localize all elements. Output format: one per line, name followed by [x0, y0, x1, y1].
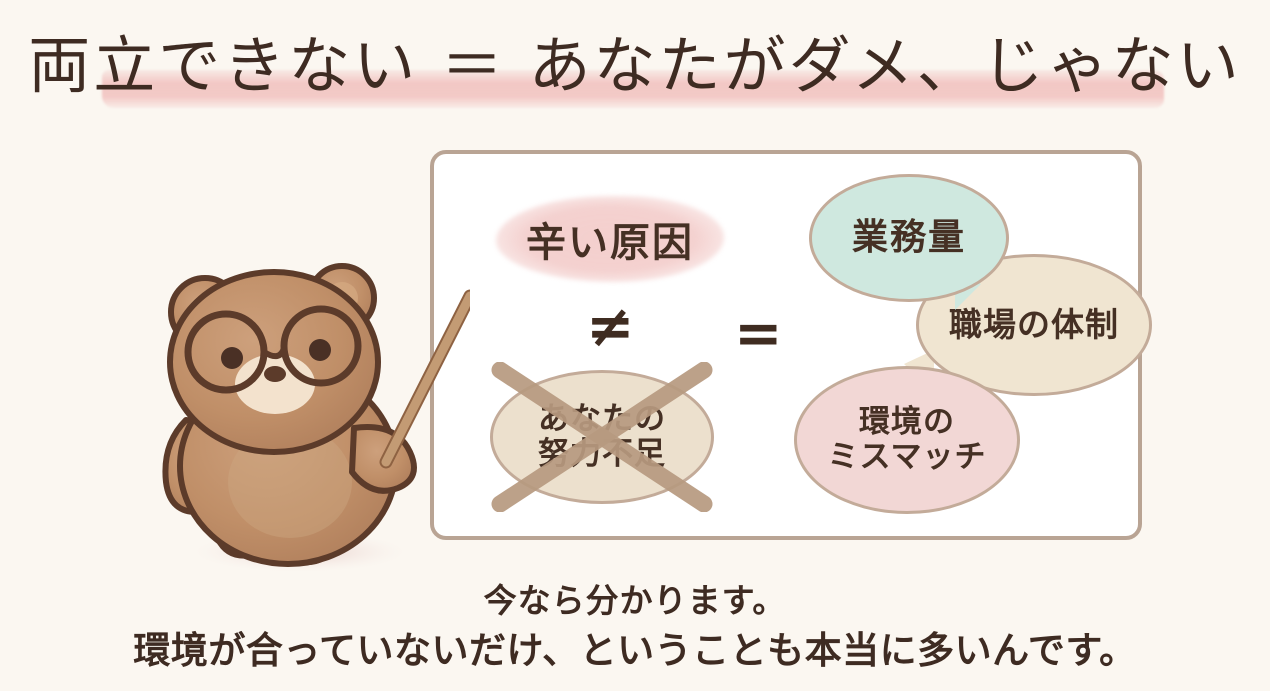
bubble-workload-label: 業務量: [852, 218, 966, 258]
cause-label-text: 辛い原因: [496, 196, 724, 282]
diagram-panel-inner: 辛い原因 ≠ = 業務量 職場の体制 環境の ミスマッチ: [434, 154, 1138, 536]
bubble-your-effort-shortage: あなたの 努力不足: [490, 370, 714, 504]
slide-canvas: 両立できない ＝ あなたがダメ、じゃない 辛い原因 ≠ = 業務量 職場の体制: [0, 0, 1270, 691]
caption-line-2: 環境が合っていないだけ、ということも本当に多いんです。: [0, 624, 1270, 678]
caption-block: 今なら分かります。 環境が合っていないだけ、ということも本当に多いんです。: [0, 578, 1270, 678]
bubble-your-effort-shortage-line2: 努力不足: [538, 436, 666, 472]
equal-symbol: =: [734, 304, 783, 362]
bubble-environment-mismatch-label: 環境の ミスマッチ: [827, 405, 986, 474]
bubble-your-effort-shortage-line1: あなたの: [538, 401, 666, 437]
bear-nose: [264, 366, 286, 382]
bear-character-icon: [140, 250, 470, 580]
pointer-stick-icon: [386, 296, 470, 462]
not-equal-symbol: ≠: [586, 297, 635, 355]
diagram-panel: 辛い原因 ≠ = 業務量 職場の体制 環境の ミスマッチ: [430, 150, 1142, 540]
bubble-environment-mismatch-line2: ミスマッチ: [827, 439, 986, 475]
bear-left-eye: [221, 347, 243, 369]
bubble-workload: 業務量: [809, 174, 1009, 302]
title-text: 両立できない ＝ あなたがダメ、じゃない: [0, 22, 1270, 110]
page-title: 両立できない ＝ あなたがダメ、じゃない: [0, 22, 1270, 112]
bubble-environment-mismatch-line1: 環境の: [859, 404, 955, 440]
bear-right-eye: [309, 339, 331, 361]
cause-label: 辛い原因: [496, 196, 724, 282]
caption-line-1: 今なら分かります。: [0, 578, 1270, 624]
bubble-workplace-system-label: 職場の体制: [949, 307, 1119, 344]
bubble-your-effort-shortage-label: あなたの 努力不足: [538, 402, 666, 471]
bubble-environment-mismatch: 環境の ミスマッチ: [794, 366, 1020, 514]
